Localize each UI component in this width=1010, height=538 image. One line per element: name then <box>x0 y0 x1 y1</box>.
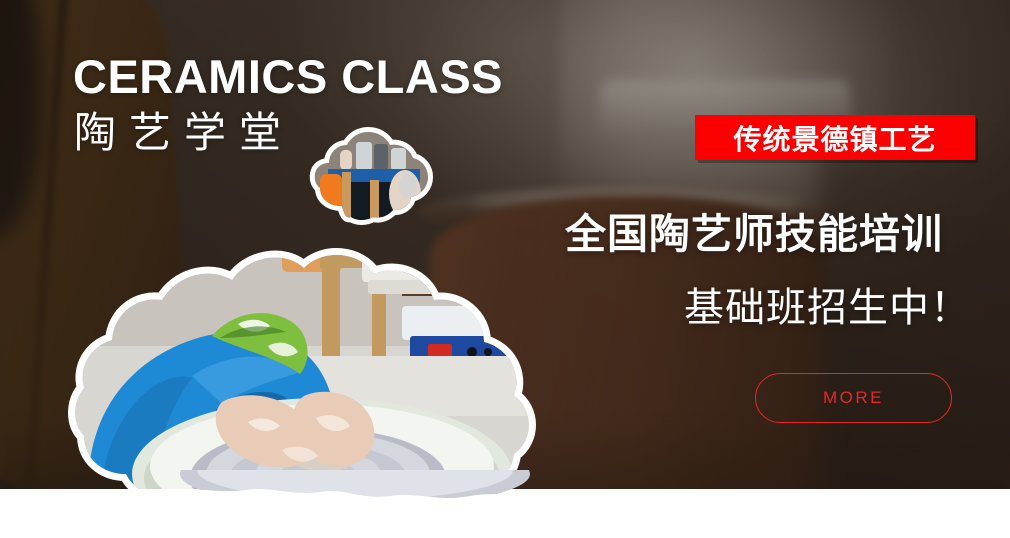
promo-subline: 基础班招生中！ <box>684 275 971 333</box>
ribbon-badge: 传统景德镇工艺 <box>695 115 975 160</box>
promo-headline: 全国陶艺师技能培训 <box>565 200 943 260</box>
cloud-photo-large-svg <box>72 226 552 526</box>
cloud-photo-large <box>72 226 552 526</box>
page-title-english: CERAMICS CLASS <box>73 53 503 100</box>
page-title-chinese: 陶艺学堂 <box>74 112 294 154</box>
ceramics-class-banner: CERAMICS CLASS 陶艺学堂 <box>0 0 1010 538</box>
cloud-photo-small-content <box>312 128 434 224</box>
cloud-photo-small <box>312 128 434 224</box>
ribbon-label: 传统景德镇工艺 <box>733 118 936 158</box>
cloud-photo-small-svg <box>312 128 434 224</box>
more-button[interactable]: MORE <box>755 373 952 423</box>
bottom-white-strip <box>0 489 1010 538</box>
